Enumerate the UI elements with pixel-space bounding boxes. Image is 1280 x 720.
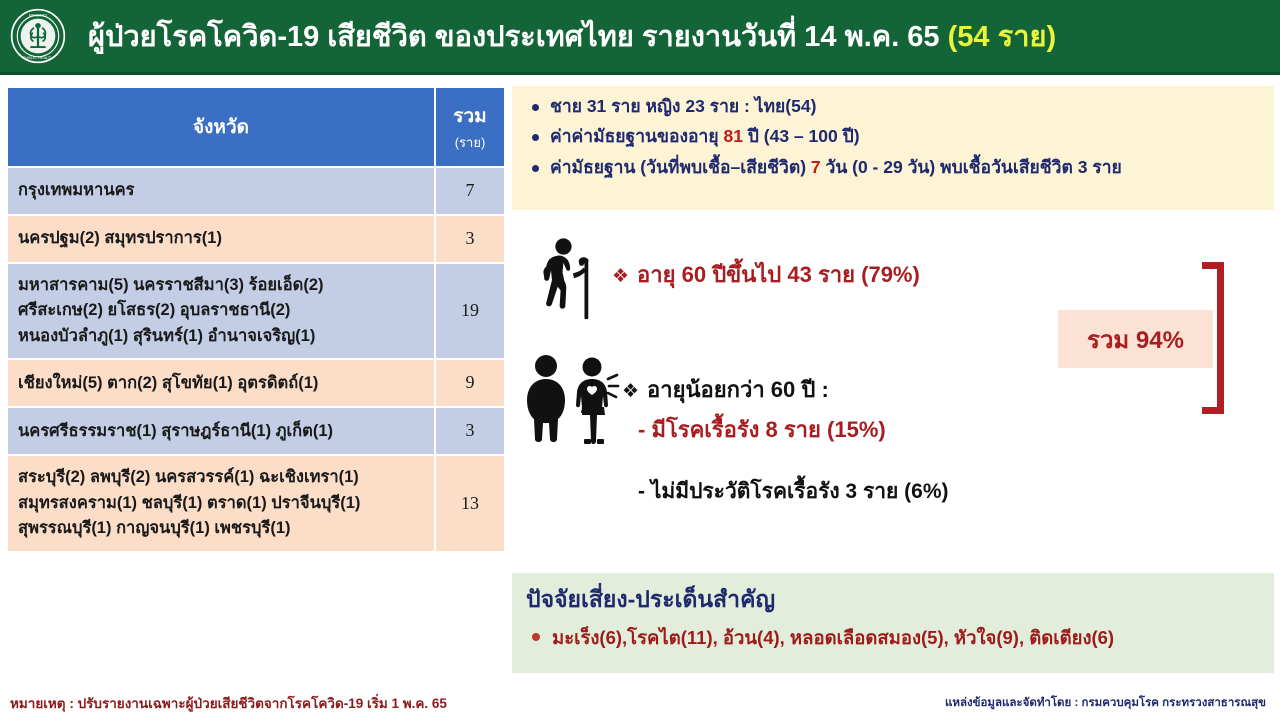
summary-text-post: วัน (0 - 29 วัน) พบเชื้อวันเสียชีวิต 3 ร… (821, 157, 1122, 177)
cell-total: 13 (436, 456, 504, 551)
diamond-bullet-icon: ❖ (612, 266, 629, 287)
column-header-total-label: รวม (453, 106, 486, 127)
column-header-total-unit: (ราย) (440, 132, 500, 153)
province-line: สมุทรสงคราม(1) ชลบุรี(1) ตราด(1) ปราจีนบ… (18, 491, 424, 517)
table-row: เชียงใหม่(5) ตาก(2) สุโขทัย(1) อุตรดิตถ์… (8, 360, 504, 406)
province-line: เชียงใหม่(5) ตาก(2) สุโขทัย(1) อุตรดิตถ์… (18, 371, 424, 397)
summary-text-pre: ค่ามัธยฐาน (วันที่พบเชื้อ–เสียชีวิต) (550, 157, 811, 177)
table-row: กรุงเทพมหานคร 7 (8, 168, 504, 214)
table-header-row: จังหวัด รวม (ราย) (8, 88, 504, 166)
cell-provinces: นครศรีธรรมราช(1) สุราษฎร์ธานี(1) ภูเก็ต(… (8, 408, 434, 454)
combined-total-badge: รวม 94% (1058, 310, 1213, 368)
page-title-count: (54 ราย) (948, 21, 1056, 53)
risk-factors-list-item: มะเร็ง(6),โรคไต(11), อ้วน(4), หลอดเลือดส… (526, 624, 1264, 653)
province-line: หนองบัวลำภู(1) สุรินทร์(1) อำนาจเจริญ(1) (18, 324, 424, 350)
ministry-of-public-health-seal-icon: MINISTRY PUBLIC HEALTH (10, 8, 66, 64)
table-body: กรุงเทพมหานคร 7 นครปฐม(2) สมุทรปราการ(1)… (8, 168, 504, 551)
province-death-table: จังหวัด รวม (ราย) กรุงเทพมหานคร 7 นคร (6, 86, 506, 553)
age-with-chronic-line: - มีโรคเรื้อรัง 8 ราย (15%) (638, 412, 886, 447)
cell-provinces: กรุงเทพมหานคร (8, 168, 434, 214)
svg-text:MINISTRY: MINISTRY (29, 12, 48, 17)
cell-total: 19 (436, 264, 504, 359)
province-line: สระบุรี(2) ลพบุรี(2) นครสวรรค์(1) ฉะเชิง… (18, 465, 424, 491)
summary-bullet-list: ชาย 31 ราย หญิง 23 ราย : ไทย(54) ค่าค่าม… (522, 96, 1266, 178)
age-breakdown-section: ❖อายุ 60 ปีขึ้นไป 43 ราย (79%) ❖อายุน้อย… (512, 225, 1274, 550)
age-over-60-text: อายุ 60 ปีขึ้นไป 43 ราย (79%) (637, 262, 920, 287)
summary-highlight: 7 (811, 157, 821, 177)
list-item: ชาย 31 ราย หญิง 23 ราย : ไทย(54) (522, 96, 1266, 117)
summary-text-post: ปี (43 – 100 ปี) (743, 126, 860, 146)
cell-provinces: มหาสารคาม(5) นครราชสีมา(3) ร้อยเอ็ด(2) ศ… (8, 264, 434, 359)
province-line: นครศรีธรรมราช(1) สุราษฎร์ธานี(1) ภูเก็ต(… (18, 419, 424, 445)
list-item: ค่าค่ามัธยฐานของอายุ 81 ปี (43 – 100 ปี) (522, 126, 1266, 147)
risk-factors-title: ปัจจัยเสี่ยง-ประเด็นสำคัญ (526, 582, 1264, 618)
cell-total: 9 (436, 360, 504, 406)
diamond-bullet-icon: ❖ (622, 381, 639, 402)
page-title-text: ผู้ป่วยโรคโควิด-19 เสียชีวิต ของประเทศไท… (88, 21, 940, 53)
infographic-page: MINISTRY PUBLIC HEALTH ผู้ป่วยโรคโควิด-1… (0, 0, 1280, 720)
summary-highlight: 81 (723, 126, 742, 146)
page-title: ผู้ป่วยโรคโควิด-19 เสียชีวิต ของประเทศไท… (88, 13, 1056, 59)
obese-and-heart-patient-icon (520, 353, 620, 445)
table-row: นครศรีธรรมราช(1) สุราษฎร์ธานี(1) ภูเก็ต(… (8, 408, 504, 454)
age-under-60-line: ❖อายุน้อยกว่า 60 ปี : (622, 372, 829, 407)
province-line: นครปฐม(2) สมุทรปราการ(1) (18, 226, 424, 252)
footer-note: หมายเหตุ : ปรับรายงานเฉพาะผู้ป่วยเสียชีว… (10, 692, 447, 714)
province-line: ศรีสะเกษ(2) ยโสธร(2) อุบลราชธานี(2) (18, 298, 424, 324)
column-header-province: จังหวัด (8, 88, 434, 166)
risk-factors-panel: ปัจจัยเสี่ยง-ประเด็นสำคัญ มะเร็ง(6),โรคไ… (512, 573, 1274, 673)
table-row: นครปฐม(2) สมุทรปราการ(1) 3 (8, 216, 504, 262)
age-over-60-line: ❖อายุ 60 ปีขึ้นไป 43 ราย (79%) (612, 257, 920, 292)
cell-provinces: เชียงใหม่(5) ตาก(2) สุโขทัย(1) อุตรดิตถ์… (8, 360, 434, 406)
cell-total: 7 (436, 168, 504, 214)
cell-provinces: สระบุรี(2) ลพบุรี(2) นครสวรรค์(1) ฉะเชิง… (8, 456, 434, 551)
summary-panel: ชาย 31 ราย หญิง 23 ราย : ไทย(54) ค่าค่าม… (512, 86, 1274, 210)
province-line: มหาสารคาม(5) นครราชสีมา(3) ร้อยเอ็ด(2) (18, 273, 424, 299)
province-line: สุพรรณบุรี(1) กาญจนบุรี(1) เพชรบุรี(1) (18, 516, 424, 542)
elderly-with-cane-icon (534, 237, 612, 323)
cell-total: 3 (436, 408, 504, 454)
cell-total: 3 (436, 216, 504, 262)
footer-source: แหล่งข้อมูลและจัดทำโดย : กรมควบคุมโรค กร… (945, 694, 1266, 712)
page-header: MINISTRY PUBLIC HEALTH ผู้ป่วยโรคโควิด-1… (0, 0, 1280, 72)
header-divider (0, 72, 1280, 75)
table-row: มหาสารคาม(5) นครราชสีมา(3) ร้อยเอ็ด(2) ศ… (8, 264, 504, 359)
table-row: สระบุรี(2) ลพบุรี(2) นครสวรรค์(1) ฉะเชิง… (8, 456, 504, 551)
summary-text-pre: ชาย 31 ราย หญิง 23 ราย : ไทย(54) (550, 96, 816, 116)
column-header-total: รวม (ราย) (436, 88, 504, 166)
age-under-60-text: อายุน้อยกว่า 60 ปี : (647, 377, 829, 402)
list-item: ค่ามัธยฐาน (วันที่พบเชื้อ–เสียชีวิต) 7 ว… (522, 157, 1266, 178)
age-no-chronic-line: - ไม่มีประวัติโรคเรื้อรัง 3 ราย (6%) (638, 475, 949, 508)
svg-text:PUBLIC HEALTH: PUBLIC HEALTH (23, 55, 53, 60)
summary-text-pre: ค่าค่ามัธยฐานของอายุ (550, 126, 723, 146)
province-line: กรุงเทพมหานคร (18, 178, 424, 204)
province-table-container: จังหวัด รวม (ราย) กรุงเทพมหานคร 7 นคร (6, 86, 506, 553)
cell-provinces: นครปฐม(2) สมุทรปราการ(1) (8, 216, 434, 262)
